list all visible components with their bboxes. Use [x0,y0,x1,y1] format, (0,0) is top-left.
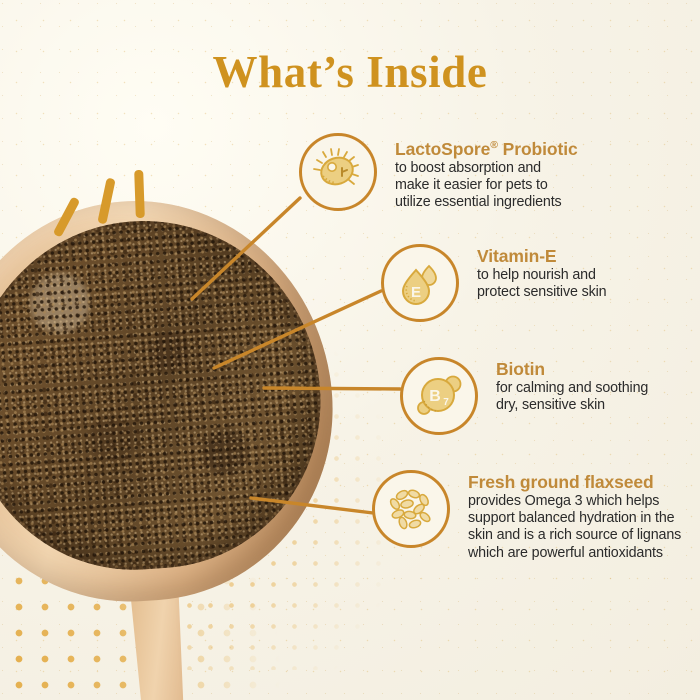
callout-connector-lines [0,0,700,700]
callout-heading: Fresh ground flaxseed [468,472,681,492]
infographic-canvas: What’s Inside LactoSpore® Probiotic to b… [0,0,700,700]
callout-lactospore-probiotic: LactoSpore® Probiotic to boost absorptio… [299,133,578,211]
callout-body-line: to help nourish and [477,267,606,284]
svg-text:7: 7 [443,397,449,408]
svg-text:B: B [429,388,441,405]
callout-body-line: make it easier for pets to [395,177,578,194]
callout-heading: Biotin [496,359,648,379]
callout-body-line: provides Omega 3 which helps [468,493,681,510]
callout-heading: LactoSpore® Probiotic [395,135,578,159]
callout-text: LactoSpore® Probiotic to boost absorptio… [395,133,578,211]
callout-body-line: utilize essential ingredients [395,194,578,211]
connector-line-2 [214,291,381,368]
flaxseed-cluster-icon [372,470,450,548]
page-title: What’s Inside [0,46,700,98]
callout-fresh-ground-flaxseed: Fresh ground flaxseed provides Omega 3 w… [372,470,681,562]
callout-text: Biotin for calming and soothing dry, sen… [496,357,648,414]
connector-line-1 [192,198,300,299]
callout-body-line: which are powerful antioxidants [468,545,681,562]
callout-biotin: B 7 Biotin for calming and soothing dry,… [400,357,648,435]
svg-text:E: E [411,284,421,301]
connector-line-3 [264,388,400,389]
callout-body-line: to boost absorption and [395,160,578,177]
droplet-e-icon: E [381,244,459,322]
molecule-b7-icon: B 7 [400,357,478,435]
connector-line-4 [251,498,373,513]
bacteria-icon [299,133,377,211]
callout-body-line: support balanced hydration in the [468,510,681,527]
callout-heading: Vitamin-E [477,246,606,266]
callout-body-line: skin and is a rich source of lignans [468,527,681,544]
callout-body-line: dry, sensitive skin [496,397,648,414]
callout-body-line: for calming and soothing [496,380,648,397]
callout-text: Vitamin-E to help nourish and protect se… [477,244,606,301]
callout-body-line: protect sensitive skin [477,284,606,301]
callout-vitamin-e: E Vitamin-E to help nourish and protect … [381,244,606,322]
callout-text: Fresh ground flaxseed provides Omega 3 w… [468,470,681,562]
